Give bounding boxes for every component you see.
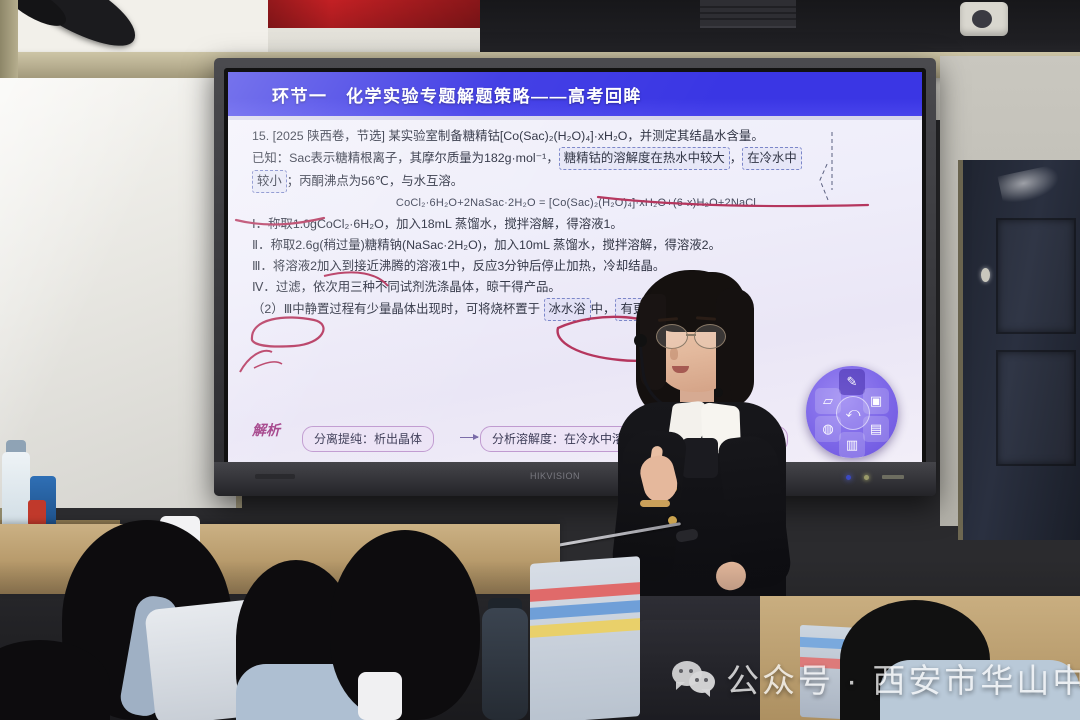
student-head-3 bbox=[330, 530, 480, 720]
analysis-arrow-1 bbox=[460, 437, 478, 438]
red-package bbox=[28, 500, 46, 526]
question-line-2: 已知：Sac表示糖精根离子，其摩尔质量为182g·mol⁻¹，糖精钴的溶解度在热… bbox=[252, 147, 900, 170]
question-line-1: 15. [2025 陕西卷，节选] 某实验室制备糖精钴[Co(Sac)₂(H₂O… bbox=[252, 126, 900, 147]
analysis-box-separation: 分离提纯：析出晶体 bbox=[302, 426, 434, 452]
callout-smaller: 较小 bbox=[252, 170, 287, 193]
watermark-text: 公众号 · 西安市华山中学 bbox=[726, 654, 1080, 702]
step-1: Ⅰ．称取1.0gCoCl₂·6H₂O，加入18mL 蒸馏水，搅拌溶解，得溶液1。 bbox=[252, 214, 900, 235]
pen-icon[interactable]: ✎ bbox=[839, 369, 865, 395]
sub-question-text: Ⅲ中静置过程有少量晶体出现时，可将烧杯置于 bbox=[284, 302, 540, 316]
step-2: Ⅱ．称取2.6g(稍过量)糖精钠(NaSac·2H₂O)，加入10mL 蒸馏水，… bbox=[252, 235, 900, 256]
question-line-3: 较小；丙酮沸点为56℃，与水互溶。 bbox=[252, 170, 900, 193]
reaction-equation: CoCl₂·6H₂O+2NaSac·2H₂O = [Co(Sac)₂(H₂O)₄… bbox=[252, 193, 900, 214]
headset-mic-capsule bbox=[714, 388, 723, 397]
slide-title: 环节一 化学实验专题解题策略——高考回眸 bbox=[272, 82, 642, 107]
ir-receiver bbox=[255, 474, 295, 479]
door-panel-lower bbox=[996, 350, 1076, 466]
sub-question-number: （2） bbox=[252, 302, 284, 316]
slide-body: 15. [2025 陕西卷，节选] 某实验室制备糖精钴[Co(Sac)₂(H₂O… bbox=[228, 120, 922, 410]
callout-cold-water: 在冷水中 bbox=[742, 147, 802, 170]
teacher-bracelet bbox=[640, 500, 670, 507]
acetone-note: 丙酮沸点为56℃，与水互溶。 bbox=[299, 174, 463, 188]
known-prefix: 已知：Sac表示糖精根离子，其摩尔质量为182g·mol⁻¹， bbox=[252, 151, 559, 165]
wall-speaker bbox=[960, 2, 1008, 36]
analysis-label: 解析 bbox=[252, 420, 280, 440]
undo-icon[interactable]: ⤺ bbox=[836, 396, 870, 430]
answer-ice-bath: 冰水浴 bbox=[544, 298, 591, 321]
callout-solubility-hot: 糖精钴的溶解度在热水中较大 bbox=[559, 147, 730, 170]
radial-toolbar[interactable]: ✎ ▱ ▣ ◍ ▤ ▥ ⤺ bbox=[806, 366, 898, 458]
white-cup bbox=[358, 672, 402, 720]
display-status-leds bbox=[846, 473, 912, 483]
dark-water-bottle bbox=[482, 608, 528, 720]
classroom-scene: 环节一 化学实验专题解题策略——高考回眸 15. [2025 陕西卷，节选] 某… bbox=[0, 0, 1080, 720]
red-banner-shading bbox=[268, 0, 480, 28]
ceiling-vent bbox=[700, 0, 796, 28]
watermark: 公众号 · 西安市华山中学 bbox=[672, 654, 1080, 702]
spray-bottle bbox=[2, 452, 30, 530]
display-brand-label: HIKVISION bbox=[500, 470, 610, 482]
door-panel-upper bbox=[996, 218, 1076, 334]
book-stack-center bbox=[530, 556, 640, 720]
door-knob[interactable] bbox=[981, 268, 990, 282]
whiteboard-glare bbox=[0, 78, 236, 508]
whiteboard-icon[interactable]: ▥ bbox=[839, 432, 865, 458]
teacher-jacket-front bbox=[682, 438, 718, 478]
wechat-icon bbox=[672, 661, 716, 695]
headset-mic-earpiece bbox=[634, 334, 647, 347]
